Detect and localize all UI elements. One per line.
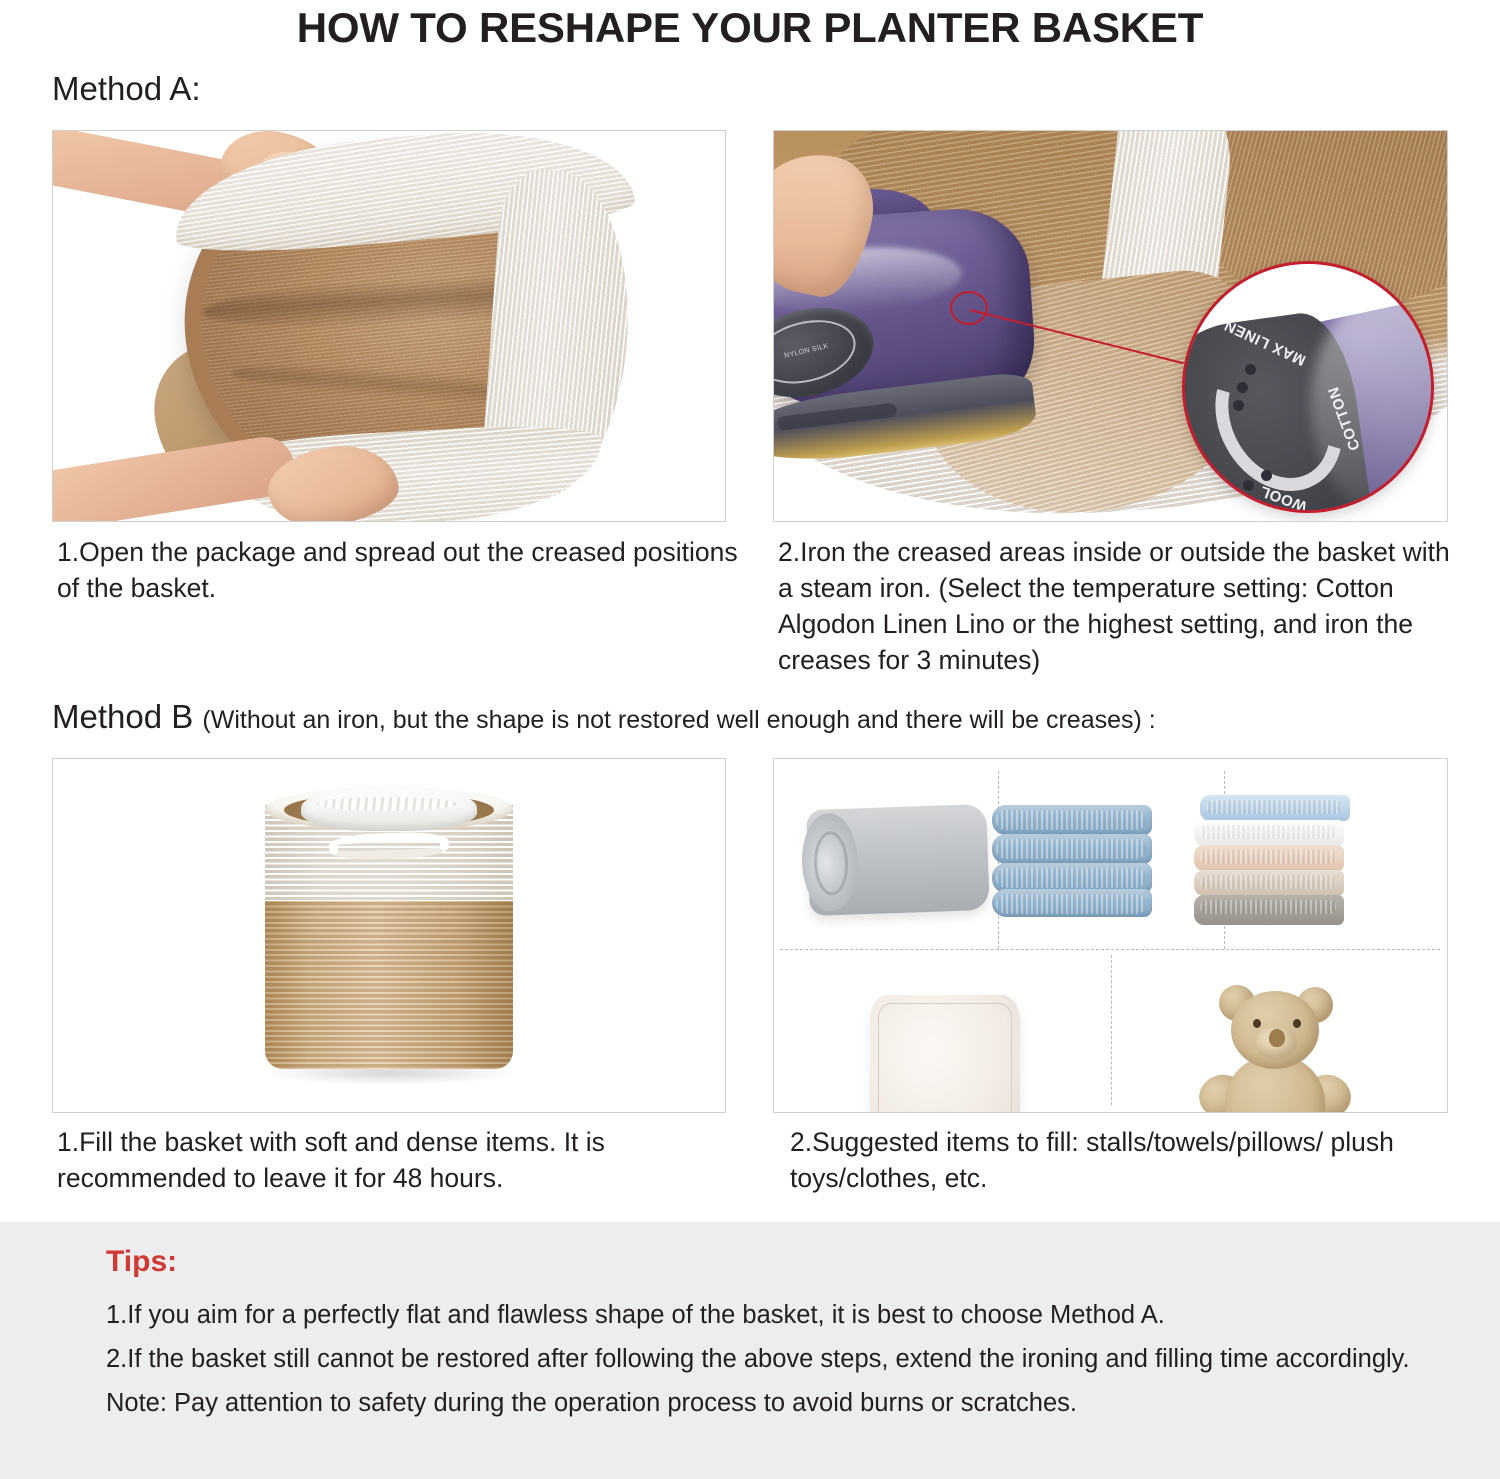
dial-dot — [1261, 470, 1272, 481]
callout-magnified-dial: MAX LINEN COTTON WOOL — [1182, 261, 1434, 513]
method-a-heading-text: Method A: — [52, 70, 201, 107]
caption-method-a-step-1: 1.Open the package and spread out the cr… — [57, 534, 747, 606]
photo-basket-filled — [52, 758, 726, 1113]
photo-hands-spreading-basket — [52, 130, 726, 522]
photo-suggested-items-grid — [773, 758, 1448, 1113]
tips-line-2: 2.If the basket still cannot be restored… — [106, 1337, 1436, 1381]
stacked-folded-towels — [1194, 795, 1344, 925]
towel-layer — [992, 834, 1152, 864]
white-pillow — [870, 995, 1020, 1113]
photo-steam-iron-on-basket: NYLON SILK MAX LINEN — [773, 130, 1448, 522]
dial-dot — [1245, 364, 1256, 375]
tips-line-1: 1.If you aim for a perfectly flat and fl… — [106, 1293, 1436, 1337]
method-a-heading: Method A: — [52, 70, 201, 108]
method-b-heading: Method B (Without an iron, but the shape… — [52, 698, 1156, 736]
dial-dot — [1243, 480, 1254, 491]
illustration-spread-basket — [53, 131, 725, 521]
bear-eye-left — [1253, 1019, 1261, 1028]
caption-method-b-step-1: 1.Fill the basket with soft and dense it… — [57, 1124, 757, 1196]
folded-towel-beige — [1194, 845, 1344, 871]
grid-cell-rolled-blanket — [774, 759, 998, 949]
illustration-fill-items — [774, 759, 1447, 1112]
dial-dot — [1237, 382, 1248, 393]
method-b-heading-sub: (Without an iron, but the shape is not r… — [202, 706, 1155, 734]
method-b-heading-main: Method B — [52, 698, 193, 735]
callout-source-ring — [950, 291, 988, 325]
plush-teddy-bear — [1179, 975, 1369, 1113]
tips-line-3: Note: Pay attention to safety during the… — [106, 1381, 1436, 1425]
dial-dot — [1233, 400, 1244, 411]
folded-towel-cream — [1194, 870, 1344, 896]
caption-method-a-step-2: 2.Iron the creased areas inside or outsi… — [778, 534, 1468, 678]
illustration-ironing: NYLON SILK MAX LINEN — [774, 131, 1447, 521]
rolled-gray-blanket — [806, 804, 990, 916]
tips-title: Tips: — [106, 1245, 177, 1279]
folded-blue-towels — [992, 805, 1152, 917]
infographic-page: HOW TO RESHAPE YOUR PLANTER BASKET Metho… — [0, 0, 1500, 1479]
page-title: HOW TO RESHAPE YOUR PLANTER BASKET — [0, 2, 1500, 54]
grid-divider-horizontal — [780, 949, 1440, 950]
tips-section: Tips: 1.If you aim for a perfectly flat … — [0, 1222, 1500, 1479]
folded-towel-blue — [1200, 795, 1350, 821]
bear-eye-right — [1293, 1019, 1301, 1028]
grid-divider-vertical-3 — [1111, 955, 1112, 1105]
bear-nose — [1269, 1029, 1285, 1047]
towel-layer — [992, 805, 1152, 835]
tips-lines: 1.If you aim for a perfectly flat and fl… — [106, 1293, 1436, 1425]
folded-towel-gray — [1194, 895, 1344, 925]
basket-white-fabric-fill — [301, 785, 477, 831]
illustration-filled-basket — [53, 759, 725, 1112]
caption-method-b-step-2: 2.Suggested items to fill: stalls/towels… — [790, 1124, 1480, 1196]
folded-towel-white — [1194, 820, 1344, 846]
towel-layer — [992, 889, 1152, 917]
